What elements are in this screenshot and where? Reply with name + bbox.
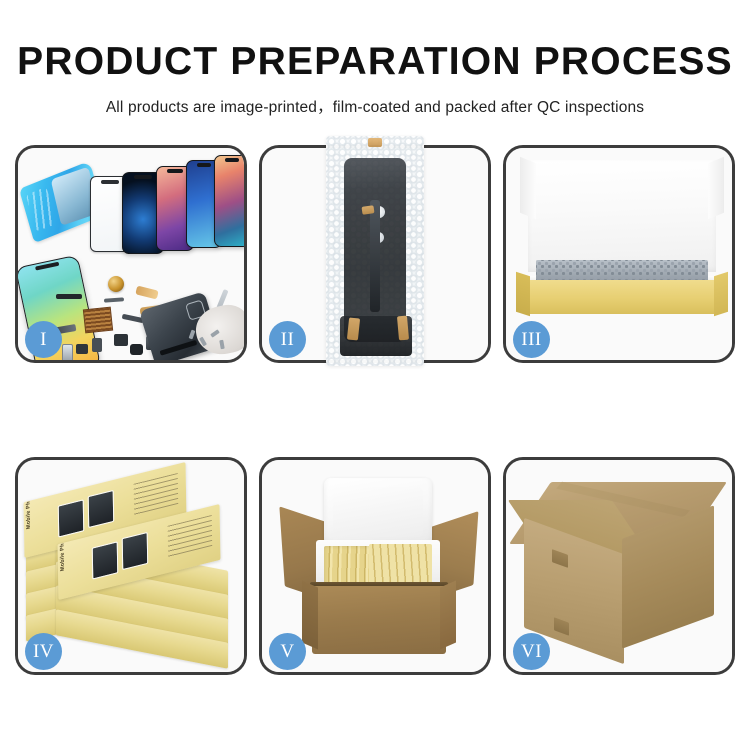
bubble-bag-icon bbox=[326, 136, 424, 366]
step-badge-6: VI bbox=[513, 633, 550, 670]
step-badge-1: I bbox=[25, 321, 62, 358]
part-icon bbox=[114, 334, 128, 346]
tape-icon bbox=[397, 316, 409, 341]
step-badge-2: II bbox=[269, 321, 306, 358]
step-badge-3: III bbox=[513, 321, 550, 358]
box-product-image bbox=[92, 541, 119, 579]
box-base-icon bbox=[524, 280, 720, 314]
process-step-5[interactable]: V bbox=[259, 457, 491, 675]
part-icon bbox=[62, 344, 73, 360]
part-icon bbox=[92, 338, 102, 352]
box-product-image bbox=[122, 532, 149, 570]
chip-array-icon bbox=[83, 307, 113, 334]
process-step-3[interactable]: III bbox=[503, 145, 735, 363]
screws-icon bbox=[188, 328, 228, 350]
box-label-text: Mobile Phone Spare Parts bbox=[25, 462, 32, 530]
page-title: PRODUCT PREPARATION PROCESS bbox=[0, 0, 750, 83]
part-icon bbox=[104, 297, 124, 302]
step-badge-5: V bbox=[269, 633, 306, 670]
process-step-4[interactable]: Mobile Phone Spare Parts Mobile Phone Sp… bbox=[15, 457, 247, 675]
carton-body-icon bbox=[312, 586, 446, 654]
taptic-coin-icon bbox=[108, 276, 124, 292]
product-preparation-infographic: PRODUCT PREPARATION PROCESS All products… bbox=[0, 0, 750, 750]
process-step-grid: I II bbox=[15, 145, 735, 735]
phone-icon-4 bbox=[214, 155, 244, 247]
foam-lid-icon bbox=[324, 478, 432, 546]
box-product-image bbox=[88, 490, 115, 528]
tape-icon bbox=[347, 317, 360, 340]
part-icon bbox=[56, 294, 82, 299]
part-icon bbox=[76, 344, 88, 354]
process-step-2[interactable]: II bbox=[259, 145, 491, 363]
flex-cable-icon bbox=[370, 200, 380, 312]
header: PRODUCT PREPARATION PROCESS All products… bbox=[0, 0, 750, 117]
part-icon bbox=[130, 344, 143, 355]
box-spec-text bbox=[134, 473, 179, 518]
box-lid-icon bbox=[528, 160, 716, 272]
step-badge-4: IV bbox=[25, 633, 62, 670]
tape-icon bbox=[368, 138, 382, 147]
process-step-6[interactable]: VI bbox=[503, 457, 735, 675]
box-spec-text bbox=[168, 515, 213, 560]
tape-icon bbox=[362, 205, 375, 215]
box-product-image bbox=[58, 499, 85, 537]
process-step-1[interactable]: I bbox=[15, 145, 247, 363]
part-icon bbox=[135, 285, 159, 299]
page-subtitle: All products are image-printed，film-coat… bbox=[0, 83, 750, 117]
